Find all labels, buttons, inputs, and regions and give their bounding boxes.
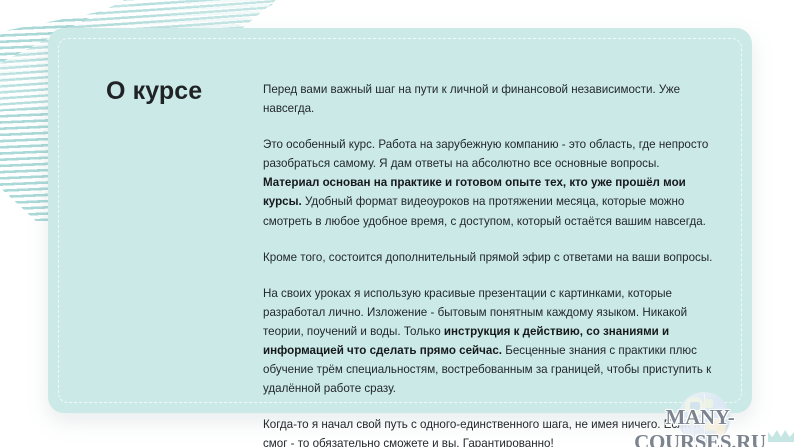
paragraph: Когда-то я начал свой путь с одного-един… bbox=[263, 415, 718, 447]
body-text: Когда-то я начал свой путь с одного-един… bbox=[263, 418, 700, 447]
slide-canvas: О курсе Перед вами важный шаг на пути к … bbox=[0, 0, 800, 447]
body-text: Это особенный курс. Работа на зарубежную… bbox=[263, 138, 708, 170]
paragraph: Кроме того, состоится дополнительный пря… bbox=[263, 248, 718, 267]
body-text: Перед вами важный шаг на пути к личной и… bbox=[263, 83, 680, 115]
page-title: О курсе bbox=[106, 76, 276, 106]
course-description: Перед вами важный шаг на пути к личной и… bbox=[263, 80, 718, 447]
body-text: Кроме того, состоится дополнительный пря… bbox=[263, 251, 712, 264]
paragraph: Перед вами важный шаг на пути к личной и… bbox=[263, 80, 718, 118]
paragraph: Это особенный курс. Работа на зарубежную… bbox=[263, 135, 718, 230]
paragraph: На своих уроках я использую красивые пре… bbox=[263, 284, 718, 399]
content-card: О курсе Перед вами важный шаг на пути к … bbox=[48, 28, 752, 413]
crown-icon bbox=[768, 430, 794, 442]
body-text: Удобный формат видеоуроков на протяжении… bbox=[263, 195, 706, 227]
